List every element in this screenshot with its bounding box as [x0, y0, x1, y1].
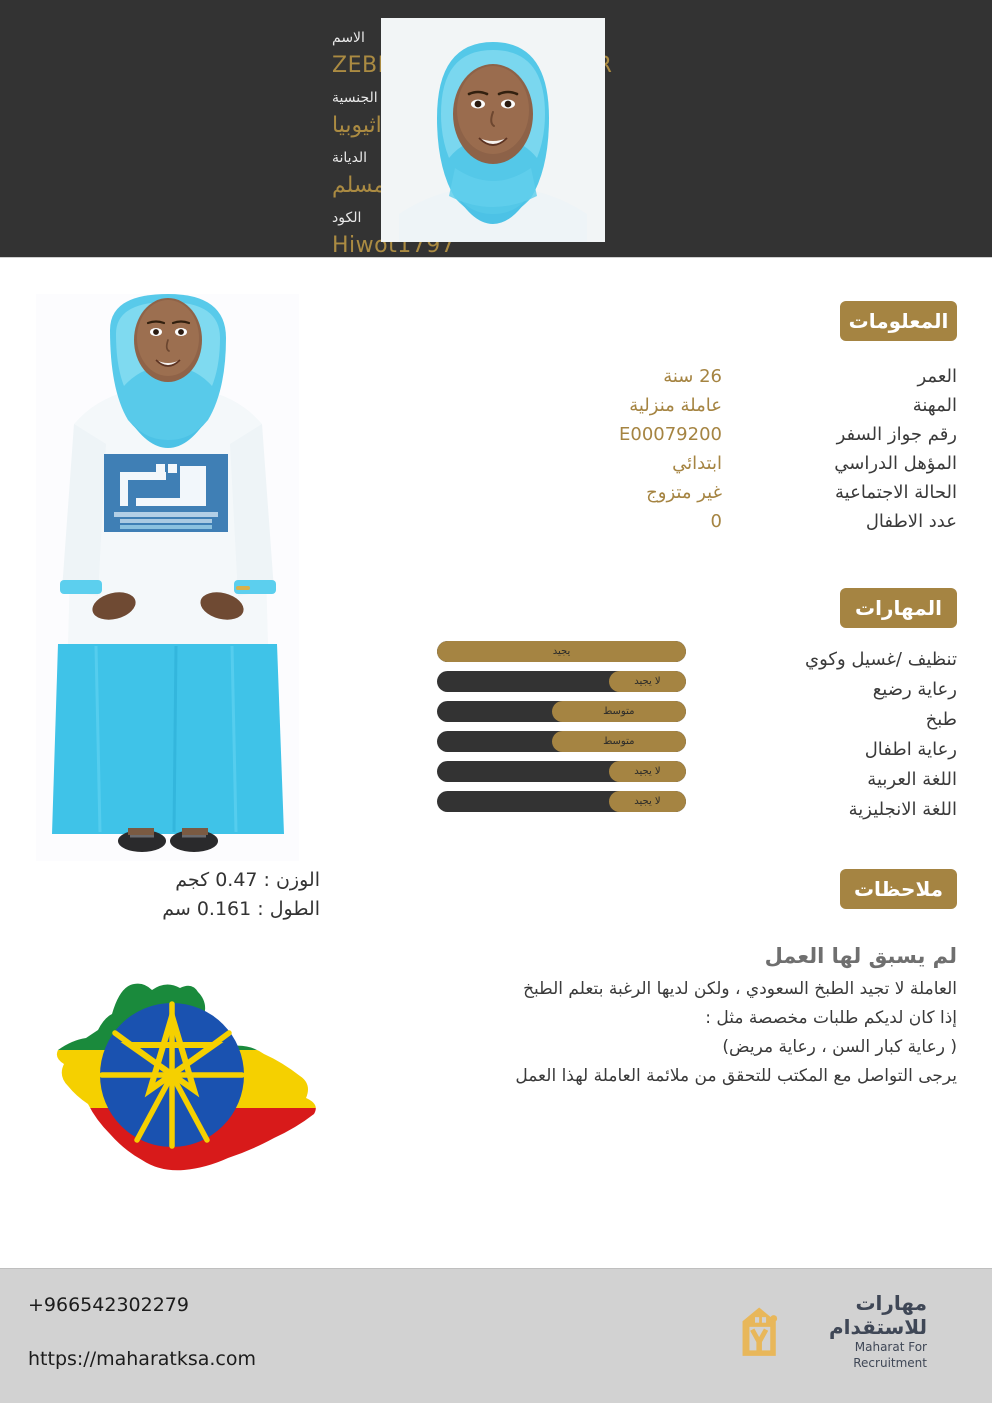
skill-labels-column: تنظيف /غسيل وكوي رعاية رضيع طبخ رعاية اط… — [737, 645, 957, 825]
skill-label-arabic: اللغة العربية — [737, 765, 957, 795]
skill-bar-fill: لا يجيد — [609, 671, 686, 692]
skill-bar-fill: متوسط — [552, 731, 686, 752]
info-labels-column: العمر المهنة رقم جواز السفر المؤهل الدرا… — [757, 362, 957, 536]
skill-label-cleaning: تنظيف /غسيل وكوي — [737, 645, 957, 675]
skill-rating-cleaning: يجيد — [548, 641, 576, 662]
notes-line-4: يرجى التواصل مع المكتب للتحقق من ملائمة … — [387, 1062, 957, 1091]
skill-bar-cooking: متوسط — [437, 701, 686, 722]
section-badge-skills: المهارات — [840, 588, 957, 628]
ethiopia-map-svg — [38, 958, 343, 1183]
footer-website-link[interactable]: https://maharatksa.com — [28, 1345, 256, 1373]
skill-bar-english: لا يجيد — [437, 791, 686, 812]
weight-text: الوزن : 0.47 كجم — [20, 866, 320, 895]
footer-bar: +966542302279 https://maharatksa.com مها… — [0, 1268, 992, 1403]
full-body-photo — [36, 294, 299, 861]
notes-block: لم يسبق لها العمل العاملة لا تجيد الطبخ … — [387, 940, 957, 1091]
info-label-job: المهنة — [757, 391, 957, 420]
skill-bar-arabic: لا يجيد — [437, 761, 686, 782]
skill-label-babycare: رعاية رضيع — [737, 675, 957, 705]
info-label-age: العمر — [757, 362, 957, 391]
info-value-passport: E00079200 — [302, 420, 722, 449]
company-name-en: Maharat For Recruitment — [787, 1339, 927, 1371]
info-label-children: عدد الاطفال — [757, 507, 957, 536]
notes-title: لم يسبق لها العمل — [387, 940, 957, 973]
info-value-children: 0 — [302, 507, 722, 536]
skill-rating-arabic: لا يجيد — [629, 761, 665, 782]
skill-rating-babycare: لا يجيد — [629, 671, 665, 692]
skill-label-english: اللغة الانجليزية — [737, 795, 957, 825]
skill-bar-fill: لا يجيد — [609, 761, 686, 782]
info-label-passport: رقم جواز السفر — [757, 420, 957, 449]
skill-rating-childcare: متوسط — [598, 731, 639, 752]
section-badge-notes: ملاحظات — [840, 869, 957, 909]
measurements-block: الوزن : 0.47 كجم الطول : 0.161 سم — [20, 866, 320, 924]
info-label-education: المؤهل الدراسي — [757, 449, 957, 478]
skill-rating-cooking: متوسط — [598, 701, 639, 722]
info-values-column: 26 سنة عاملة منزلية E00079200 ابتدائي غي… — [302, 362, 722, 536]
notes-line-1: العاملة لا تجيد الطبخ السعودي ، ولكن لدي… — [387, 975, 957, 1004]
height-text: الطول : 0.161 سم — [20, 895, 320, 924]
skill-bar-fill: متوسط — [552, 701, 686, 722]
skill-bar-fill: لا يجيد — [609, 791, 686, 812]
company-logo-text: مهارات للاستقدام Maharat For Recruitment — [787, 1291, 927, 1371]
skill-label-childcare: رعاية اطفال — [737, 735, 957, 765]
header-banner: الاسم ZEBIBA HUSEN BABAGIR الجنسية اثيوب… — [0, 0, 992, 258]
portrait-photo — [381, 18, 605, 242]
skill-bar-cleaning: يجيد — [437, 641, 686, 662]
skill-bar-childcare: متوسط — [437, 731, 686, 752]
skill-bar-babycare: لا يجيد — [437, 671, 686, 692]
info-value-marital: غير متزوج — [302, 478, 722, 507]
footer-phone[interactable]: +966542302279 — [28, 1291, 256, 1319]
portrait-photo-image — [381, 18, 605, 242]
full-body-photo-image — [36, 294, 299, 861]
company-name-ar: مهارات للاستقدام — [787, 1291, 927, 1339]
skill-rating-english: لا يجيد — [629, 791, 665, 812]
cv-page: الاسم ZEBIBA HUSEN BABAGIR الجنسية اثيوب… — [0, 0, 992, 1403]
notes-line-3: ( رعاية كبار السن ، رعاية مريض) — [387, 1033, 957, 1062]
section-badge-info: المعلومات — [840, 301, 957, 341]
info-value-job: عاملة منزلية — [302, 391, 722, 420]
skill-bars-column: يجيد لا يجيد متوسط متوسط لا يجيد لا يجيد — [437, 641, 686, 821]
company-logo: مهارات للاستقدام Maharat For Recruitment — [737, 1291, 927, 1371]
skill-label-cooking: طبخ — [737, 705, 957, 735]
footer-contact-block: +966542302279 https://maharatksa.com — [28, 1291, 256, 1373]
info-label-marital: الحالة الاجتماعية — [757, 478, 957, 507]
company-logo-mark-icon — [737, 1296, 781, 1366]
notes-line-2: إذا كان لديكم طلبات مخصصة مثل : — [387, 1004, 957, 1033]
skill-bar-fill: يجيد — [437, 641, 686, 662]
info-value-education: ابتدائي — [302, 449, 722, 478]
info-value-age: 26 سنة — [302, 362, 722, 391]
ethiopia-flag-map-icon — [38, 958, 343, 1183]
